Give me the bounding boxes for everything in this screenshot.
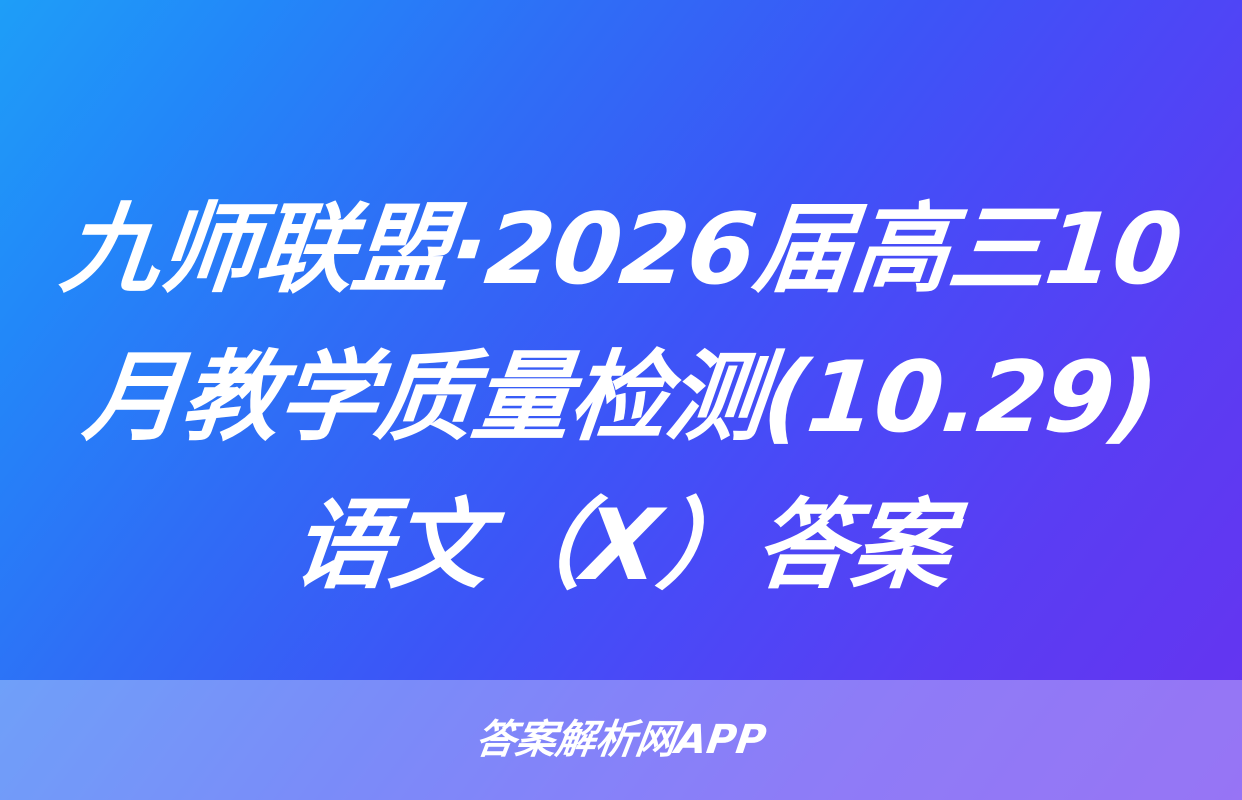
poster-background: 九师联盟·2026届高三10 月教学质量检测(10.29) 语文（X）答案 答案… [0,0,1242,800]
page-title-line-2: 月教学质量检测(10.29) [77,324,1164,472]
page-title-line-1: 九师联盟·2026届高三10 [54,176,1188,324]
page-title-line-3: 语文（X）答案 [285,472,957,620]
watermark-band: 答案解析网APP [0,680,1242,800]
poster-title-block: 九师联盟·2026届高三10 月教学质量检测(10.29) 语文（X）答案 [0,176,1242,620]
watermark-text: 答案解析网APP [473,720,768,760]
